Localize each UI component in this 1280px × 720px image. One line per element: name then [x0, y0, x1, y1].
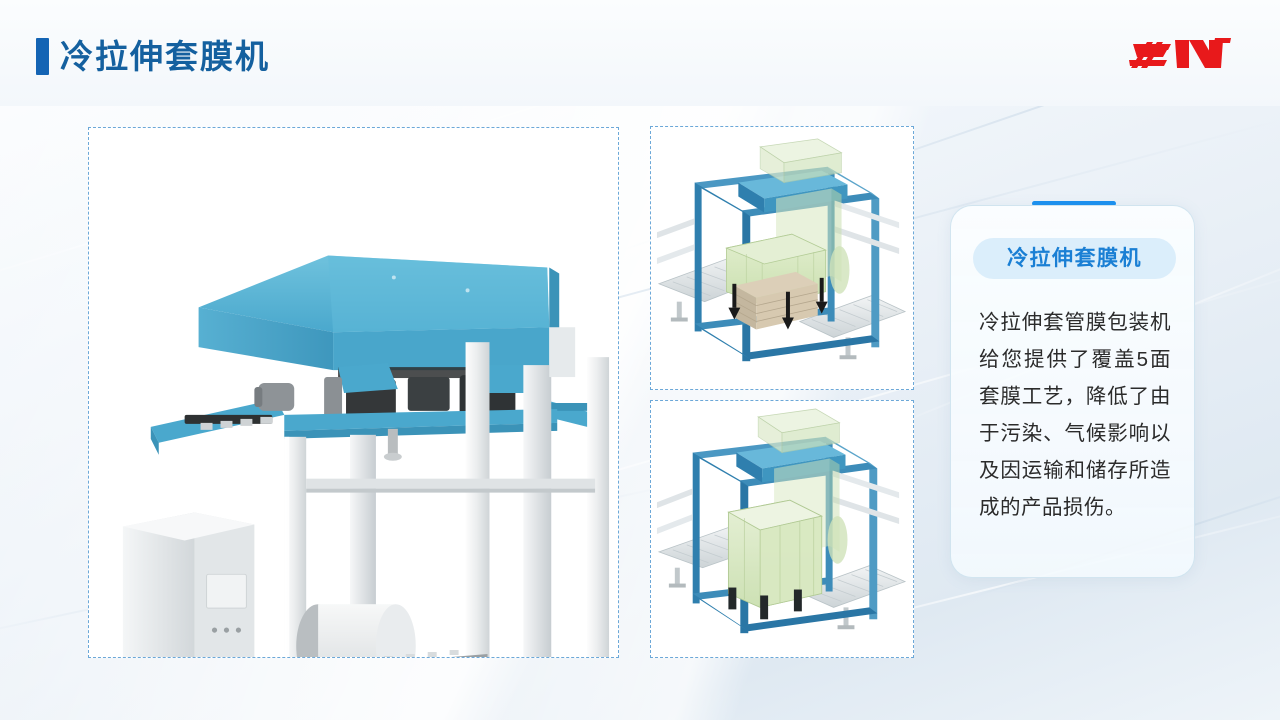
- diagram-film-covered: [650, 400, 914, 658]
- info-card-body-text: 冷拉伸套管膜包装机给您提供了覆盖5面套膜工艺，降低了由于污染、气候影响以及因运输…: [979, 304, 1171, 526]
- diagram-film-over-pallet: [650, 126, 914, 390]
- info-card-badge-label: 冷拉伸套膜机: [1007, 248, 1142, 269]
- diagram-film-over-pallet-canvas: [651, 127, 913, 389]
- main-machine-photo: [88, 127, 619, 658]
- page-title: 冷拉伸套膜机: [36, 38, 270, 75]
- diagram-film-covered-canvas: [651, 401, 913, 657]
- info-card-badge: 冷拉伸套膜机: [973, 238, 1176, 279]
- page-header: 冷拉伸套膜机: [0, 0, 1280, 106]
- page-title-text: 冷拉伸套膜机: [60, 40, 270, 73]
- title-accent-bar: [36, 38, 49, 75]
- slide-root: 冷拉伸套膜机: [0, 0, 1280, 720]
- zn-logo: [1127, 30, 1235, 78]
- main-machine-photo-canvas: [89, 128, 618, 657]
- info-card: 冷拉伸套膜机 冷拉伸套管膜包装机给您提供了覆盖5面套膜工艺，降低了由于污染、气候…: [950, 205, 1195, 578]
